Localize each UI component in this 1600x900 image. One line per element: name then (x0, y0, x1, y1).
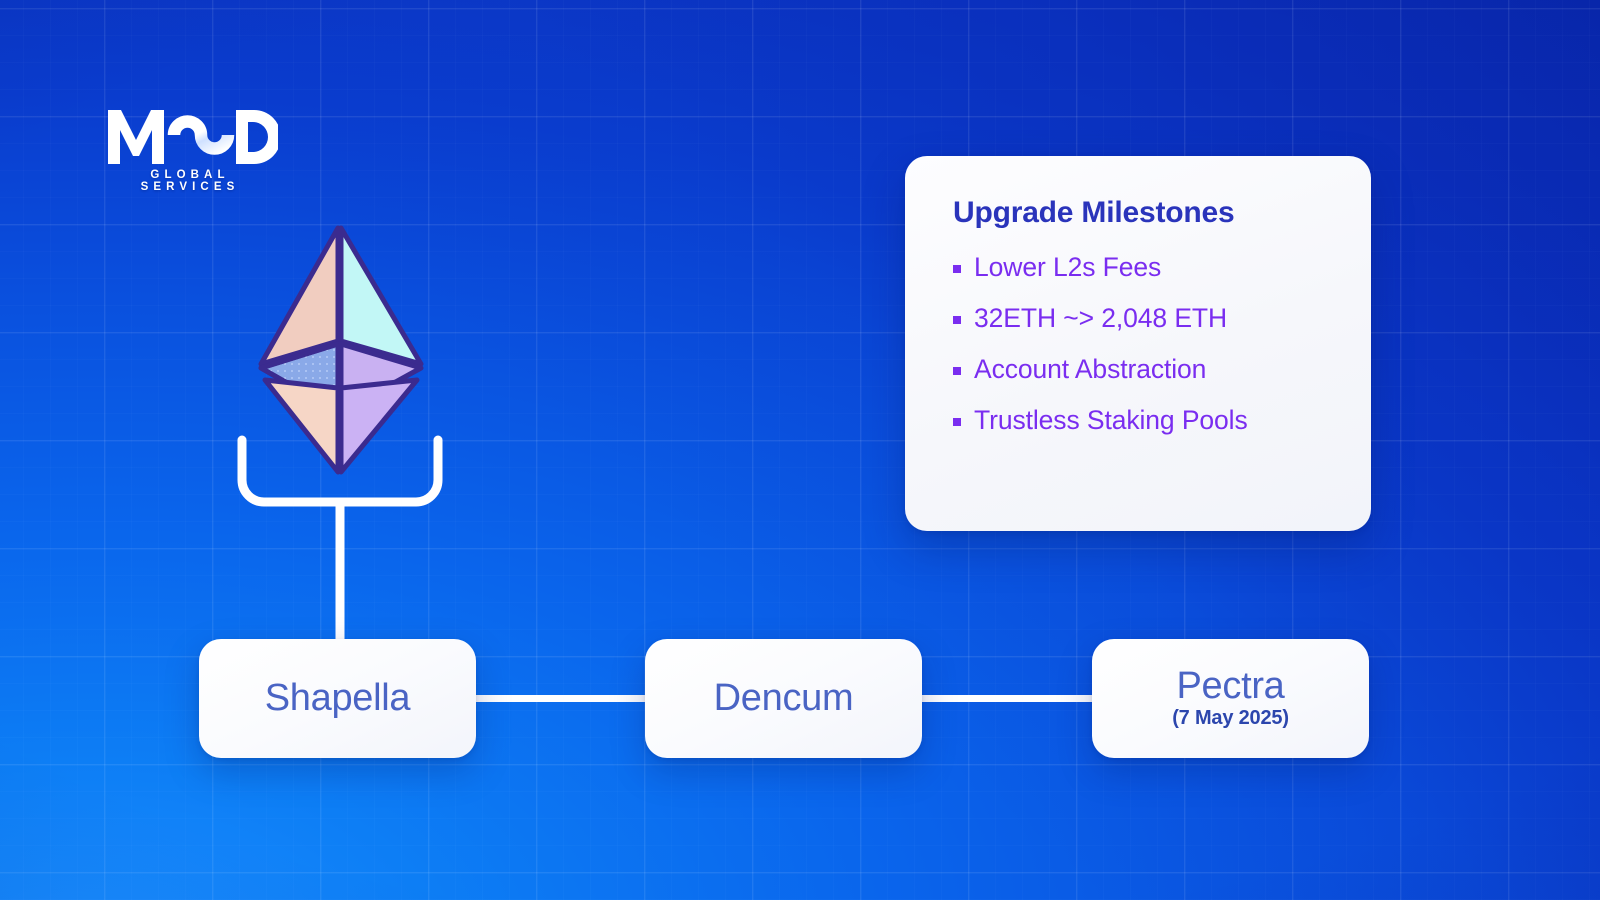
timeline-node-pectra[interactable]: Pectra (7 May 2025) (1092, 639, 1369, 758)
list-item: Trustless Staking Pools (953, 405, 1371, 436)
node-label: Dencum (714, 679, 854, 719)
list-item: 32ETH ~> 2,048 ETH (953, 303, 1371, 334)
card-title: Upgrade Milestones (905, 156, 1371, 230)
brand-tagline: GLOBAL SERVICES (109, 169, 271, 193)
milestone-label: 32ETH ~> 2,048 ETH (974, 303, 1227, 334)
infographic-canvas: GLOBAL SERVICES Upgrad (0, 0, 1600, 900)
list-item: Lower L2s Fees (953, 252, 1371, 283)
node-date: (7 May 2025) (1172, 707, 1289, 730)
node-label: Pectra (1176, 667, 1284, 707)
connector-shapella-dencum (468, 695, 654, 702)
list-item: Account Abstraction (953, 354, 1371, 385)
mood-infinity-logo-icon (106, 108, 278, 166)
bullet-square-icon (953, 367, 961, 375)
milestones-list: Lower L2s Fees 32ETH ~> 2,048 ETH Accoun… (905, 230, 1371, 436)
brand-logo: GLOBAL SERVICES (106, 108, 356, 193)
milestone-label: Lower L2s Fees (974, 252, 1161, 283)
milestone-label: Trustless Staking Pools (974, 405, 1248, 436)
bracket-connector (228, 432, 452, 662)
milestone-label: Account Abstraction (974, 354, 1206, 385)
bullet-square-icon (953, 316, 961, 324)
upgrade-milestones-card: Upgrade Milestones Lower L2s Fees 32ETH … (905, 156, 1371, 531)
bullet-square-icon (953, 418, 961, 426)
timeline-node-dencum[interactable]: Dencum (645, 639, 922, 758)
connector-dencum-pectra (914, 695, 1100, 702)
timeline-node-shapella[interactable]: Shapella (199, 639, 476, 758)
bullet-square-icon (953, 265, 961, 273)
node-label: Shapella (265, 679, 411, 719)
